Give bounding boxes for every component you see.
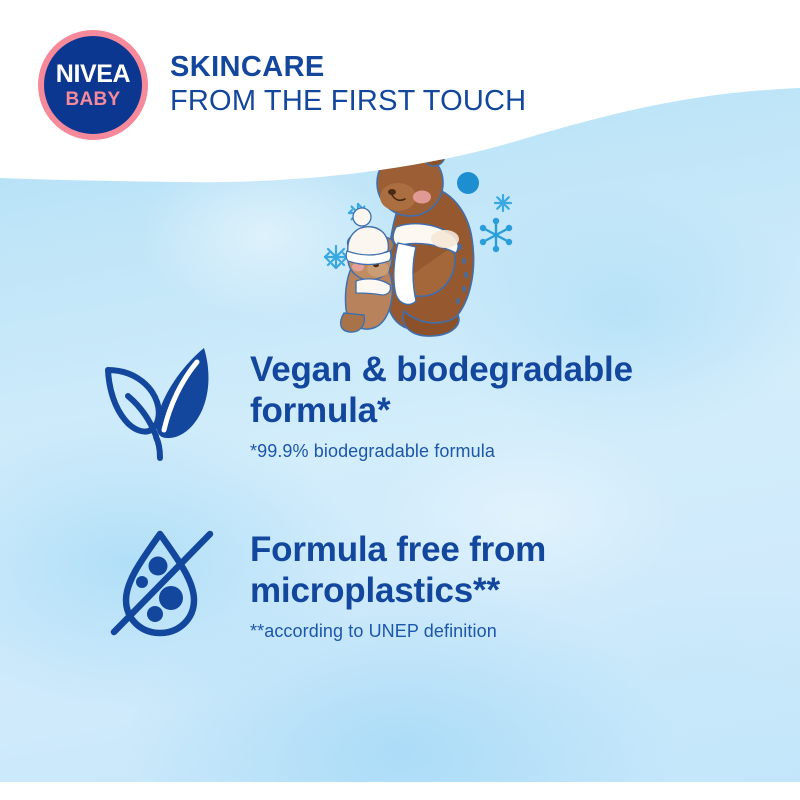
benefit-footnote: *99.9% biodegradable formula — [250, 441, 730, 462]
benefit-text-block: Formula free from microplastics** **acco… — [250, 520, 730, 642]
benefit-item-vegan-biodegradable: Vegan & biodegradable formula* *99.9% bi… — [100, 340, 730, 468]
baby-bear — [341, 208, 394, 332]
benefit-footnote: **according to UNEP definition — [250, 621, 730, 642]
benefit-title: Formula free from microplastics** — [250, 530, 730, 612]
logo-sub-brand-name: BABY — [65, 90, 120, 109]
nivea-baby-skincare-banner: NIVEA BABY SKINCARE FROM THE FIRST TOUCH… — [0, 0, 800, 800]
benefit-item-no-microplastics: Formula free from microplastics** **acco… — [100, 520, 730, 648]
no-microplastics-droplet-icon — [100, 520, 228, 648]
leaf-icon — [100, 340, 228, 468]
logo-brand-name: NIVEA — [56, 62, 130, 87]
benefit-title: Vegan & biodegradable formula* — [250, 350, 730, 432]
headline-line-2: FROM THE FIRST TOUCH — [170, 84, 526, 118]
nivea-baby-logo: NIVEA BABY — [38, 30, 148, 140]
snowflake-dotted-icon — [480, 218, 512, 252]
headline-line-1: SKINCARE — [170, 50, 526, 84]
headline: SKINCARE FROM THE FIRST TOUCH — [170, 50, 526, 118]
bottom-white-strip — [0, 782, 800, 800]
benefit-text-block: Vegan & biodegradable formula* *99.9% bi… — [250, 340, 730, 462]
